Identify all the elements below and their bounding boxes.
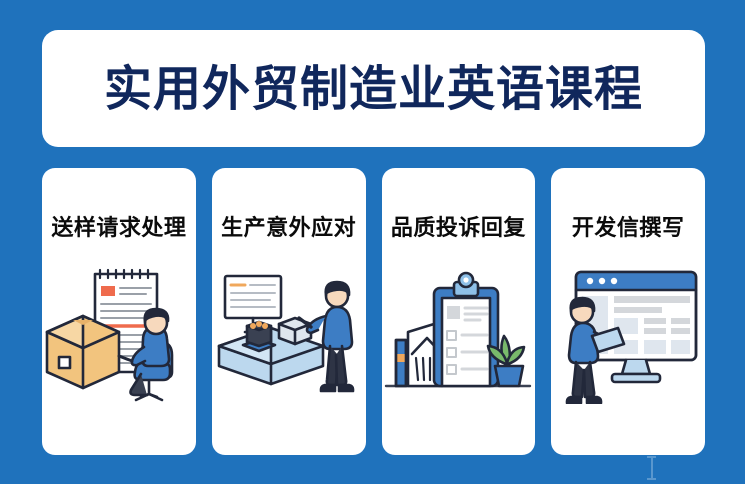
topic-card-quality-complaint[interactable]: 品质投诉回复: [382, 168, 536, 455]
caret-serif-bottom: [647, 478, 656, 480]
quality-complaint-illustration: [382, 254, 534, 404]
poster-canvas: 实用外贸制造业英语课程 送样请求处理: [0, 0, 745, 484]
card-title: 生产意外应对: [221, 210, 356, 242]
topic-card-prospecting-email[interactable]: 开发信撰写: [551, 168, 705, 455]
production-incident-illustration: [213, 254, 365, 404]
topic-card-production-incident[interactable]: 生产意外应对: [212, 168, 366, 455]
caret-bar: [651, 458, 653, 478]
card-title: 品质投诉回复: [391, 210, 526, 242]
page-title: 实用外贸制造业英语课程: [104, 65, 643, 113]
topic-card-row: 送样请求处理: [42, 168, 705, 455]
i-beam-cursor-artifact: [647, 456, 656, 480]
topic-card-sample-request[interactable]: 送样请求处理: [42, 168, 196, 455]
sample-request-illustration: [43, 254, 195, 404]
header-card: 实用外贸制造业英语课程: [42, 30, 705, 147]
card-title: 开发信撰写: [572, 210, 685, 242]
prospecting-email-illustration: [552, 254, 704, 404]
card-title: 送样请求处理: [51, 210, 186, 242]
